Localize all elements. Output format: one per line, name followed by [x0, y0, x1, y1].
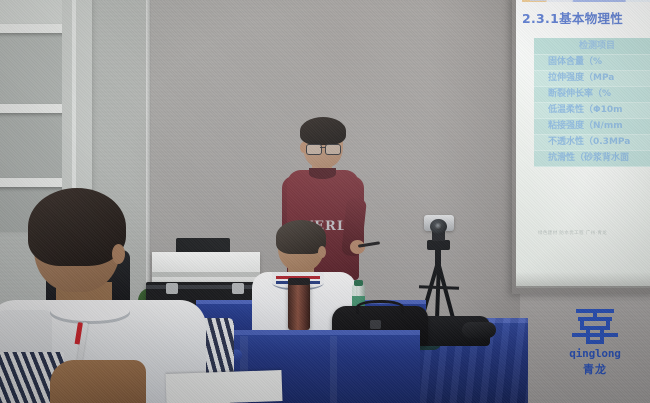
- photo-scene: 2.3.1基本物理性 检测项目 固体含量（% 拉伸强度（MPa 断裂伸长率（% …: [0, 0, 650, 403]
- photo-vignette: [0, 0, 650, 403]
